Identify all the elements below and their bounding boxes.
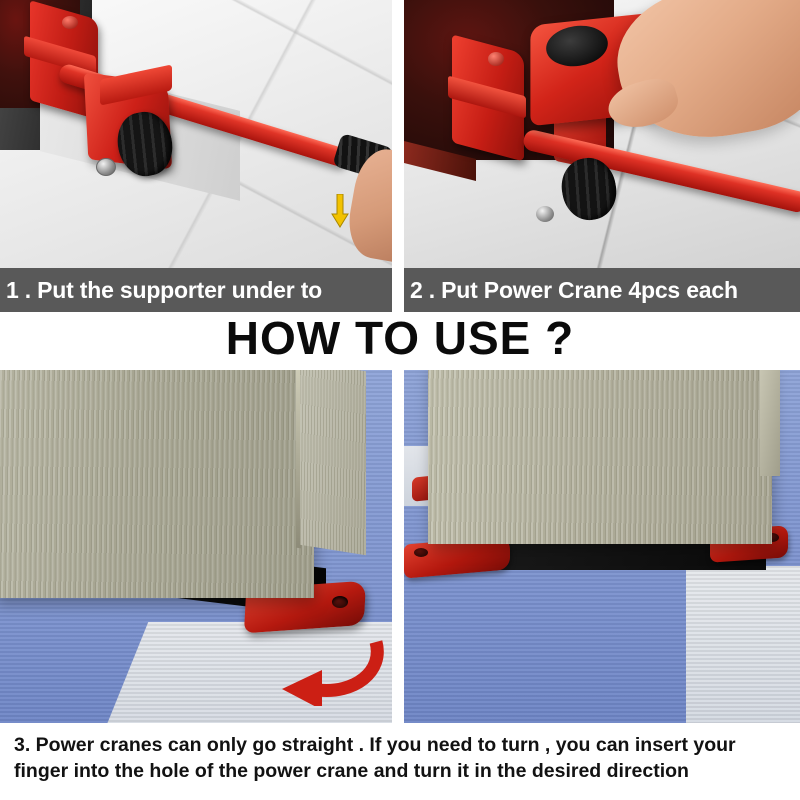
step-4-photo	[404, 370, 800, 723]
step-2-photo	[404, 0, 800, 268]
step-2-caption-bar: 2 . Put Power Crane 4pcs each	[404, 268, 800, 312]
wood-cabinet-side	[760, 370, 780, 476]
page-title: HOW TO USE ?	[0, 312, 800, 364]
bracket-bolt	[62, 16, 78, 29]
red-curved-turn-arrow-icon	[268, 632, 386, 706]
power-crane-finger-hole	[332, 596, 348, 608]
wood-cabinet-front	[0, 370, 314, 598]
step-3-instruction-text: 3. Power cranes can only go straight . I…	[14, 732, 794, 784]
yellow-down-arrow-icon	[331, 194, 349, 228]
wood-cabinet-side	[300, 370, 366, 555]
wheel-axle-bolt	[536, 206, 554, 222]
step-1-caption-bar: 1 . Put the supporter under to	[0, 268, 392, 312]
white-carpet-tile-right	[686, 566, 800, 723]
power-crane-finger-hole-left	[414, 548, 428, 557]
how-to-use-instruction-graphic: 1 . Put the supporter under to 2 . Put P…	[0, 0, 800, 800]
wheel-axle-bolt	[96, 158, 116, 176]
wood-cabinet-front	[428, 370, 772, 544]
bracket-bolt	[488, 52, 504, 66]
step-2-caption-text: 2 . Put Power Crane 4pcs each	[410, 277, 738, 304]
step-1-caption-text: 1 . Put the supporter under to	[6, 277, 322, 304]
